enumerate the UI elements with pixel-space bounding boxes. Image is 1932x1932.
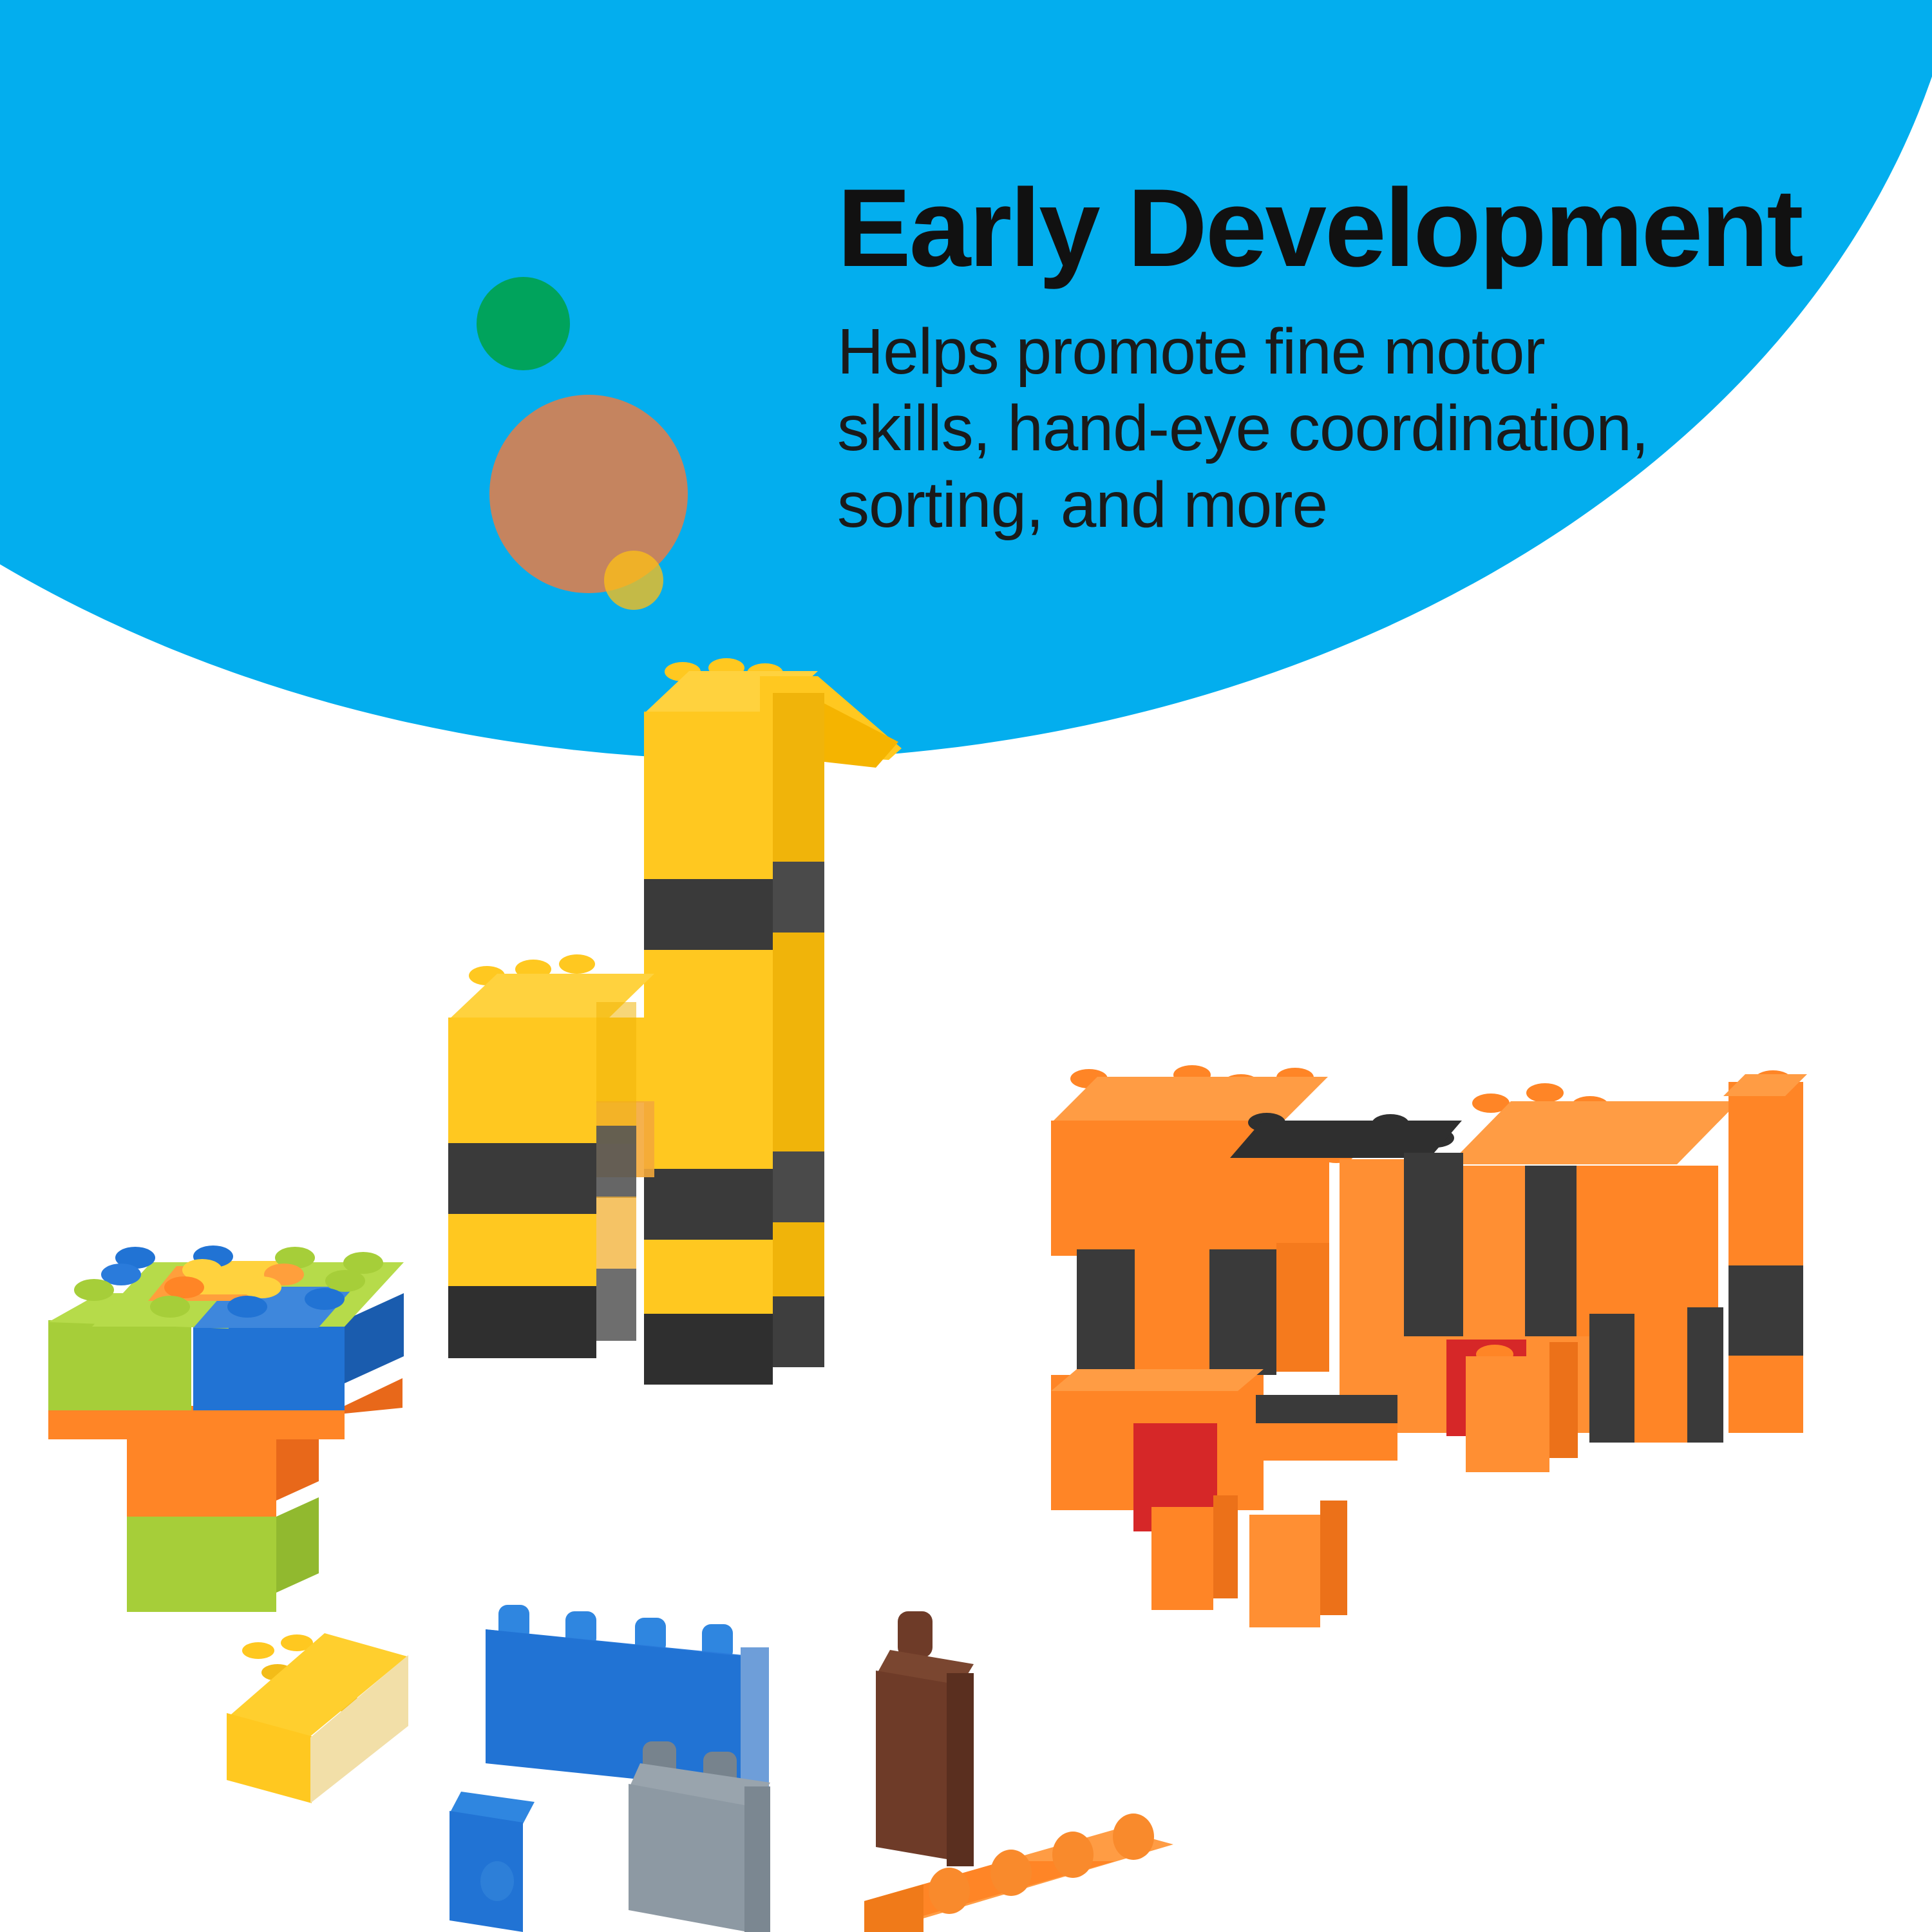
tiger-belly-orange-2 [1256, 1423, 1397, 1461]
tiger-body-black-stripe-2 [1525, 1166, 1577, 1340]
giraffe-build [425, 657, 902, 1513]
grey-brick-front [629, 1784, 757, 1932]
giraffe-leg-black-foot-side [773, 1296, 824, 1367]
orange-brick-face [864, 1864, 923, 1932]
stud-yellow [241, 1276, 281, 1298]
giraffe-leg-black-band-2-side [773, 1151, 824, 1222]
giraffe-body-yellow-upper-side [773, 1013, 824, 1151]
tiger-head-orange-mid [1135, 1249, 1209, 1377]
giraffe-neck-yellow-1 [644, 950, 773, 1030]
page-title: Early Development [837, 173, 1893, 283]
tiger-rear-leg-left [1466, 1356, 1549, 1472]
mushroom-build [35, 1224, 435, 1616]
tiger-tail-orange-bottom [1728, 1356, 1803, 1433]
giraffe-front-leg-black-foot-side [596, 1269, 636, 1341]
mushroom-cap-green-front [48, 1320, 191, 1410]
giraffe-front-leg-yellow-top [448, 1018, 596, 1143]
tiger-body-orange-2 [1463, 1166, 1525, 1346]
stud-orange-side [990, 1850, 1032, 1896]
tiger-hind-black-1 [1589, 1314, 1634, 1443]
stud-brown [898, 1611, 933, 1658]
tiger-front-leg-mid-shade [1320, 1501, 1347, 1615]
giraffe-leg-black-foot [644, 1314, 773, 1385]
page-subtitle: Helps promote fine motor skills, hand-ey… [837, 314, 1855, 544]
stud-orange [164, 1276, 204, 1298]
tiger-hind-black-2 [1687, 1307, 1723, 1443]
tiger-front-leg-mid [1249, 1515, 1320, 1627]
tiger-tail-black [1728, 1265, 1803, 1356]
stud-blue-side [480, 1861, 514, 1901]
brown-brick-side [947, 1673, 974, 1866]
giraffe-neck-yellow-1-side [773, 933, 824, 1013]
giraffe-front-leg-right-face [596, 1002, 636, 1144]
stud-orange-side [1052, 1832, 1094, 1878]
giraffe-front-leg-yellow-mid [448, 1214, 596, 1286]
stud-yellow [242, 1642, 274, 1659]
tiger-head-black-stripe-b [1209, 1249, 1276, 1375]
stud-yellow [559, 954, 595, 974]
mushroom-stem-orange [127, 1436, 276, 1520]
giraffe-leg-yellow-2 [644, 1240, 773, 1314]
mushroom-cap-orange-band [48, 1406, 345, 1439]
stud-green [150, 1296, 190, 1318]
tiger-head-front-left [1051, 1121, 1180, 1256]
tiger-hind-orange-1 [1634, 1314, 1687, 1443]
tiger-build [1037, 1037, 1810, 1546]
mushroom-cap-blue-front [193, 1320, 345, 1410]
stud-green [74, 1279, 114, 1301]
giraffe-front-leg-black-band-1-side [596, 1126, 636, 1198]
tiger-body-orange-front [1340, 1159, 1404, 1340]
mushroom-cap-orange-band-side [345, 1378, 402, 1414]
giraffe-neck-black-band-1 [644, 879, 773, 950]
tiger-head-orange-right [1276, 1243, 1329, 1372]
tiger-head-black-stripe-a [1077, 1249, 1135, 1378]
giraffe-head-front [644, 712, 773, 879]
giraffe-body-yellow-upper [644, 1030, 773, 1169]
giraffe-head-right-face [773, 693, 824, 880]
stud-blue [227, 1296, 267, 1318]
grey-brick-side [744, 1786, 770, 1932]
giraffe-leg-yellow-2-side [773, 1222, 824, 1296]
giraffe-neck-black-band-1-side [773, 862, 824, 933]
giraffe-leg-black-band-2 [644, 1169, 773, 1240]
yellow-circle-decoration [604, 551, 663, 610]
subtitle-line-1: Helps promote fine motor [837, 314, 1855, 390]
loose-bricks-group [213, 1558, 1256, 1932]
giraffe-front-leg-yellow-mid-side [596, 1197, 636, 1269]
tiger-tail-post [1728, 1082, 1803, 1269]
stud-orange [1526, 1083, 1564, 1103]
green-circle-decoration [477, 277, 570, 370]
subtitle-line-2: skills, hand-eye coordination, [837, 390, 1855, 467]
giraffe-front-leg-black-foot [448, 1286, 596, 1358]
stud-orange-side [929, 1868, 970, 1914]
giraffe-front-leg-black-band-1 [448, 1143, 596, 1214]
subtitle-line-3: sorting, and more [837, 467, 1855, 544]
promo-card: Early Development Helps promote fine mot… [0, 0, 1932, 1932]
stud-blue [305, 1288, 345, 1310]
stud-orange-side [1113, 1814, 1154, 1860]
tiger-rear-leg-left-shade [1549, 1342, 1578, 1458]
tiger-body-black-stripe-1 [1404, 1153, 1463, 1340]
